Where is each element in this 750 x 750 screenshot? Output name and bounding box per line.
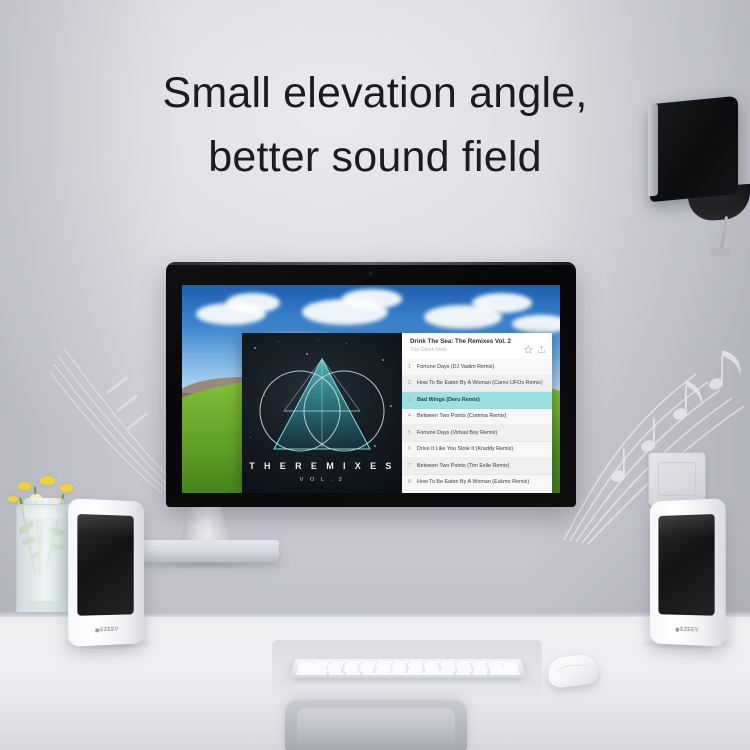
share-icon[interactable] <box>537 341 546 350</box>
track-title: Fortune Days (DJ Vadim Remix) <box>417 364 494 370</box>
album-art-title: T H E R E M I X E S <box>242 461 402 471</box>
track-title: Between Two Points (Comma Remix) <box>417 413 506 419</box>
track-title: How To Be Eaten By A Woman (Eskmo Remix) <box>417 479 529 485</box>
track-row[interactable]: 1 Fortune Days (DJ Vadim Remix) <box>402 359 552 376</box>
page-title: Small elevation angle, better sound fiel… <box>0 62 750 189</box>
album-art: T H E R E M I X E S V O L . 2 <box>242 333 402 493</box>
track-row[interactable]: 7 Between Two Points (Tim Exile Remix) <box>402 458 552 475</box>
track-number: 7 <box>402 463 417 469</box>
track-row[interactable]: 8 How To Be Eaten By A Woman (Eskmo Remi… <box>402 475 552 492</box>
scene: T H E R E M I X E S V O L . 2 Drink The … <box>0 0 750 750</box>
monitor-screen: T H E R E M I X E S V O L . 2 Drink The … <box>182 285 560 493</box>
right-desk-speaker: EZEEV <box>650 498 726 647</box>
track-title: Fortune Days (Virtual Boy Remix) <box>417 430 497 436</box>
monitor-bezel-highlight <box>166 262 576 265</box>
track-number: 4 <box>402 413 417 419</box>
track-number: 5 <box>402 430 417 436</box>
track-list[interactable]: 1 Fortune Days (DJ Vadim Remix) 2 How To… <box>402 359 552 493</box>
track-title: Between Two Points (Tim Exile Remix) <box>417 463 510 469</box>
album-artist: The Glitch Mob <box>410 347 522 353</box>
track-row[interactable]: 6 Drive It Like You Stole It (Kraddy Rem… <box>402 442 552 459</box>
track-row[interactable]: 2 How To Be Eaten By A Woman (Camo UFOs … <box>402 376 552 393</box>
album-title: Drink The Sea: The Remixes Vol. 2 <box>410 338 522 345</box>
track-number: 1 <box>402 364 417 370</box>
track-number: 2 <box>402 380 417 386</box>
headline-line-1: Small elevation angle, <box>0 62 750 126</box>
vase-glass <box>16 504 74 628</box>
track-row[interactable]: 4 Between Two Points (Comma Remix) <box>402 409 552 426</box>
wall-outlet-inner <box>658 462 696 496</box>
wall-speaker-mount <box>710 248 732 256</box>
track-title: Bad Wings (Deru Remix) <box>417 397 480 403</box>
speaker-grille-highlight <box>658 514 714 538</box>
left-desk-speaker: EZEEV <box>68 498 144 647</box>
track-number: 8 <box>402 479 417 485</box>
monitor-base <box>131 540 279 562</box>
album-art-subtitle: V O L . 2 <box>242 477 402 483</box>
webcam-icon <box>368 271 373 276</box>
track-row-selected[interactable]: 3 Bad Wings (Deru Remix) <box>402 392 552 409</box>
office-chair <box>285 700 467 750</box>
wall-outlet <box>648 452 706 506</box>
playlist-panel: Drink The Sea: The Remixes Vol. 2 The Gl… <box>402 333 552 493</box>
track-number: 6 <box>402 446 417 452</box>
speaker-brand-text: EZEEV <box>680 627 698 634</box>
playlist-header: Drink The Sea: The Remixes Vol. 2 The Gl… <box>402 333 552 359</box>
track-title: Drive It Like You Stole It (Kraddy Remix… <box>417 446 513 452</box>
headline-line-2: better sound field <box>0 126 750 190</box>
keyboard-keys <box>296 661 521 675</box>
speaker-brand-text: EZEEV <box>100 627 118 634</box>
music-player: T H E R E M I X E S V O L . 2 Drink The … <box>242 333 552 493</box>
track-number: 3 <box>402 397 417 403</box>
track-row[interactable]: 5 Fortune Days (Virtual Boy Remix) <box>402 425 552 442</box>
monitor: T H E R E M I X E S V O L . 2 Drink The … <box>166 262 576 522</box>
keyboard[interactable] <box>290 659 526 678</box>
speaker-grille-highlight <box>77 514 133 538</box>
chair-backrest <box>297 708 455 750</box>
track-title: How To Be Eaten By A Woman (Camo UFOs Re… <box>417 380 543 386</box>
mouse-seam <box>557 663 588 677</box>
star-icon[interactable] <box>524 341 533 350</box>
